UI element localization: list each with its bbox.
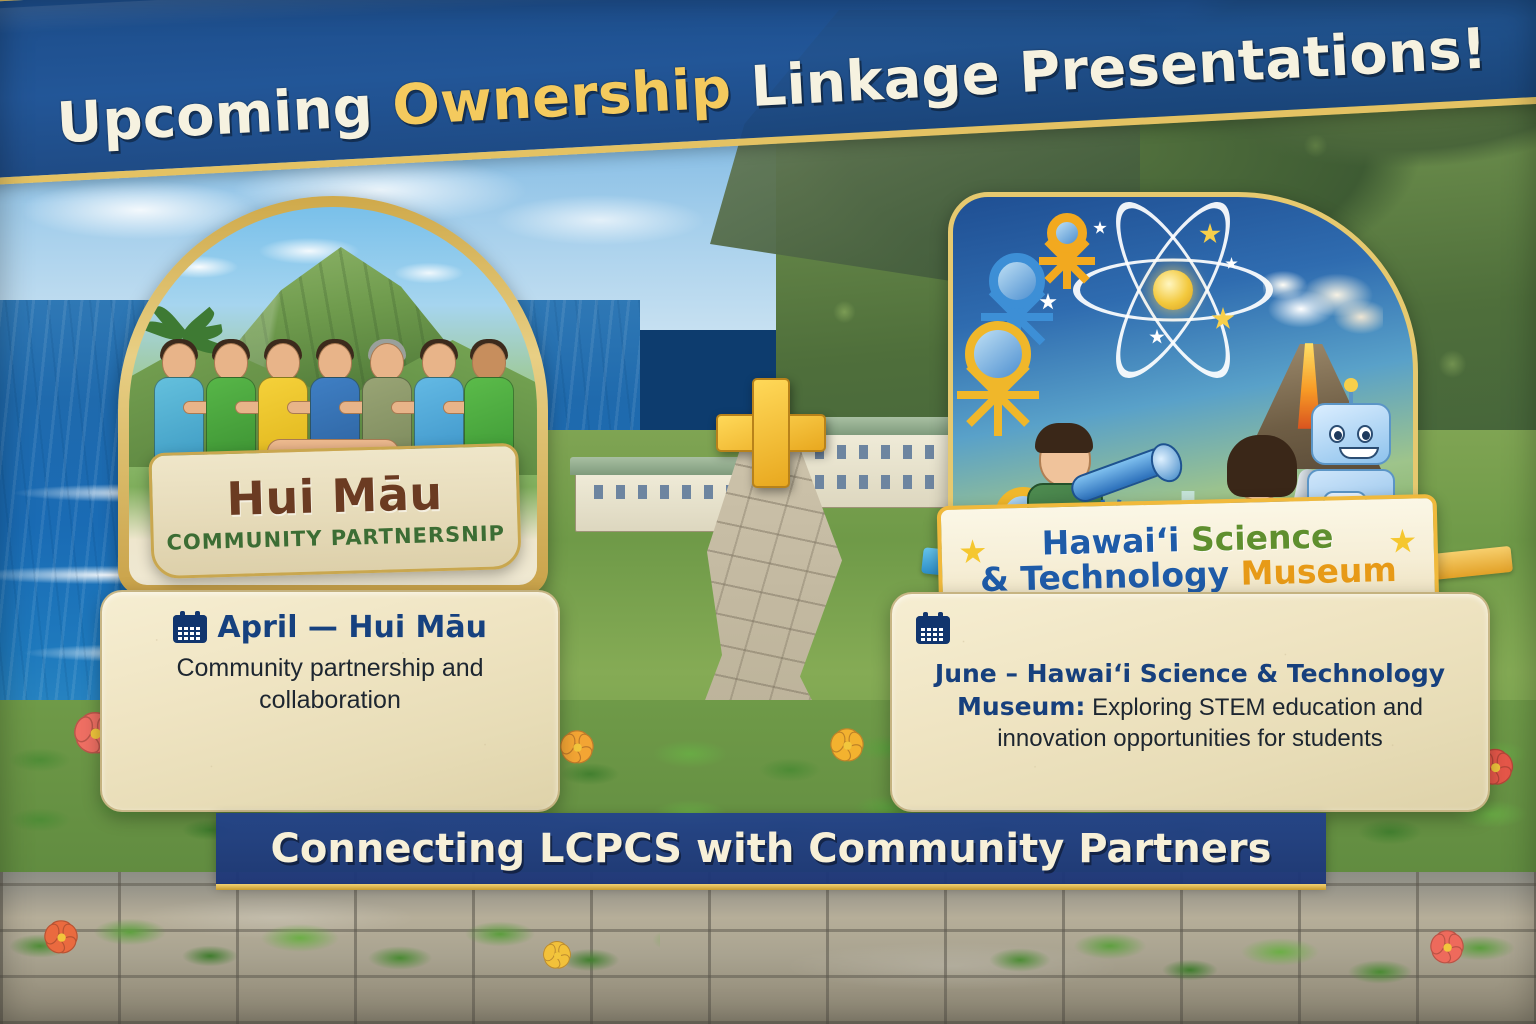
left-card-heading: April — Hui Māu bbox=[217, 610, 487, 645]
gear-icon bbox=[1047, 213, 1087, 253]
page-title-part2: Linkage Presentations! bbox=[729, 17, 1488, 122]
hui-mau-logo: Hui Māu COMMUNITY PARTNERSNIP bbox=[148, 443, 521, 579]
hui-mau-tagline: COMMUNITY PARTNERSNIP bbox=[166, 521, 505, 554]
museum-logo-line2b: Museum bbox=[1240, 550, 1397, 593]
hui-mau-name: Hui Māu bbox=[226, 469, 443, 521]
gear-icon bbox=[965, 321, 1031, 387]
footer-text: Connecting LCPCS with Community Partners bbox=[271, 826, 1272, 872]
hibiscus-flowers-lower bbox=[0, 920, 1536, 980]
left-event-card: April — Hui Māu Community partnership an… bbox=[100, 590, 560, 812]
footer-banner: Connecting LCPCS with Community Partners bbox=[216, 813, 1326, 885]
gear-icon bbox=[989, 253, 1045, 309]
footer-rule bbox=[216, 884, 1326, 890]
page-title-accent: Ownership bbox=[391, 56, 733, 139]
calendar-icon bbox=[916, 612, 950, 644]
right-event-card: June – Hawaiʻi Science & Technology Muse… bbox=[890, 592, 1490, 812]
poster-canvas: Upcoming Ownership Linkage Presentations… bbox=[0, 0, 1536, 1024]
calendar-icon bbox=[173, 611, 207, 643]
page-title-part1: Upcoming bbox=[55, 74, 394, 156]
left-card-body: Community partnership and collaboration bbox=[124, 653, 536, 716]
plus-icon bbox=[716, 378, 826, 488]
